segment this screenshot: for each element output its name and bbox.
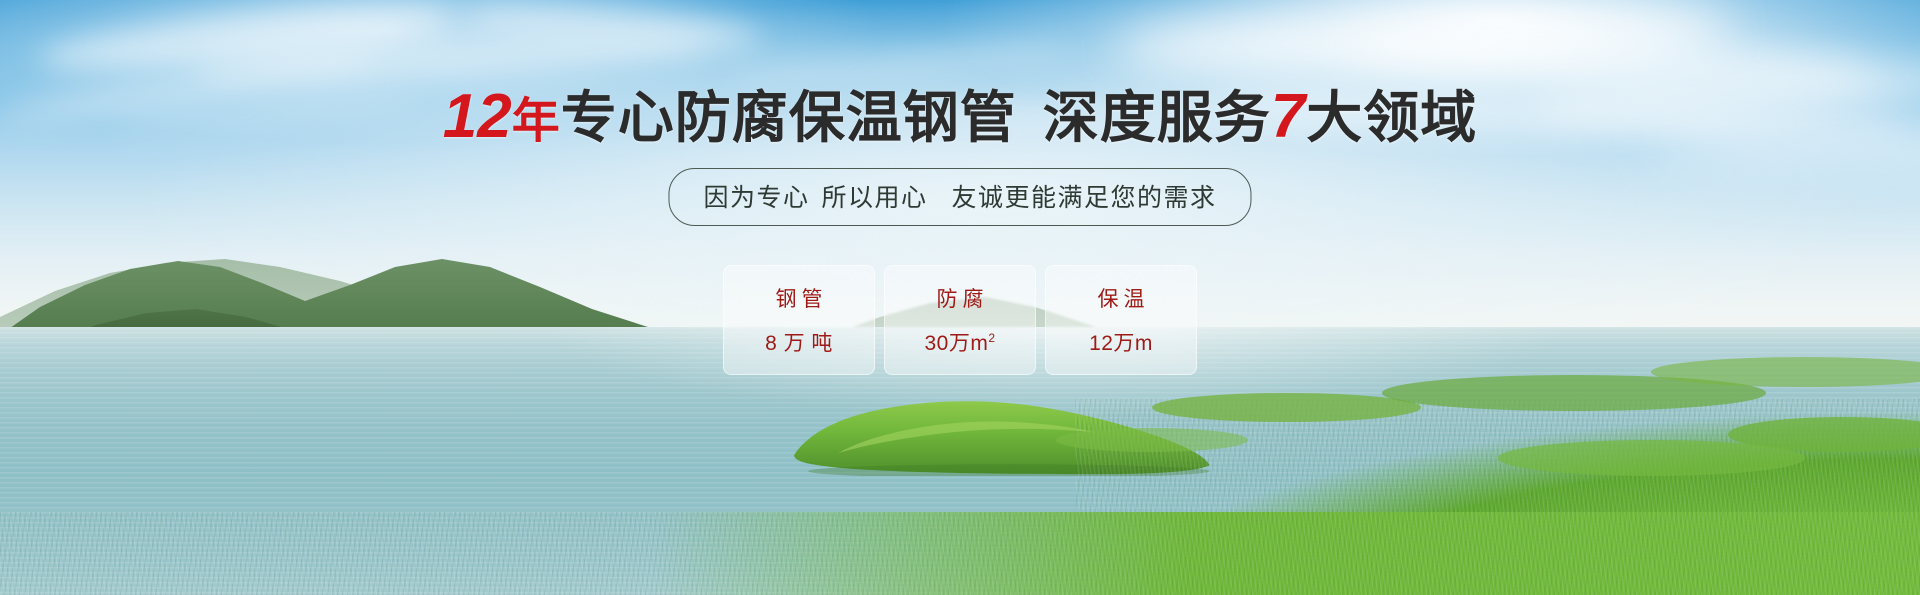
subtitle-pill: 因为专心所以用心友诚更能满足您的需求	[668, 168, 1251, 226]
banner-content: 12年专心防腐保温钢管深度服务7大领域 因为专心所以用心友诚更能满足您的需求 钢…	[0, 0, 1920, 595]
stat-card-value-superscript: 2	[988, 331, 995, 345]
stat-card-label: 保温	[1093, 283, 1150, 313]
stat-card-group: 钢管 8 万 吨 防腐 30万m2 保温 12万m	[723, 265, 1197, 375]
stat-card-label: 防腐	[932, 283, 989, 313]
promo-banner: 12年专心防腐保温钢管深度服务7大领域 因为专心所以用心友诚更能满足您的需求 钢…	[0, 0, 1920, 595]
headline-fields-number: 7	[1271, 82, 1306, 151]
headline-years-number: 12	[443, 82, 512, 151]
headline-years-unit: 年	[512, 95, 561, 148]
stat-card-value: 12万m	[1089, 327, 1153, 357]
subtitle-part-1: 因为专心	[703, 184, 809, 212]
subtitle-part-3: 友诚更能满足您的需求	[952, 184, 1217, 212]
stat-card-insulation[interactable]: 保温 12万m	[1045, 265, 1197, 375]
headline: 12年专心防腐保温钢管深度服务7大领域	[0, 84, 1920, 149]
stat-card-value: 30万m2	[924, 327, 995, 357]
stat-card-anticorrosion[interactable]: 防腐 30万m2	[884, 265, 1036, 375]
headline-second-text: 深度服务	[1043, 86, 1271, 149]
subtitle-part-2: 所以用心	[821, 184, 927, 212]
headline-tail-text: 大领域	[1306, 86, 1477, 149]
stat-card-value-main: 8 万 吨	[765, 332, 833, 355]
stat-card-label: 钢管	[771, 283, 828, 313]
stat-card-value-main: 30万m	[924, 332, 988, 355]
headline-main-text: 专心防腐保温钢管	[561, 86, 1017, 149]
stat-card-steel-pipe[interactable]: 钢管 8 万 吨	[723, 265, 875, 375]
stat-card-value-main: 12万m	[1089, 332, 1153, 355]
stat-card-value: 8 万 吨	[765, 327, 833, 357]
